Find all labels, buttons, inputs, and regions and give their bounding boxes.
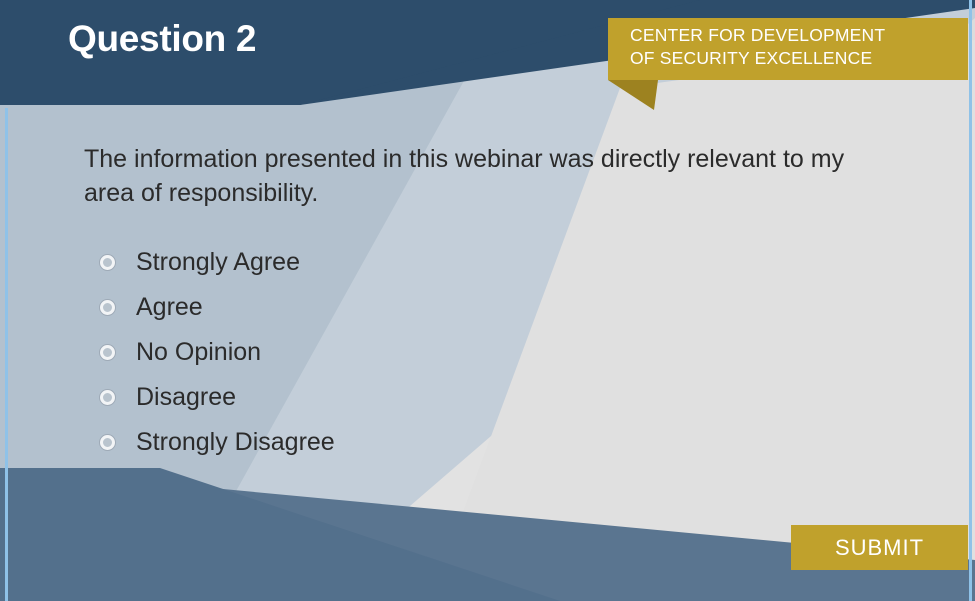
right-accent-rail xyxy=(969,0,972,601)
answer-options-list: Strongly Agree Agree No Opinion Disagree… xyxy=(100,240,560,465)
banner-line-1: CENTER FOR DEVELOPMENT xyxy=(630,24,968,47)
option-no-opinion[interactable]: No Opinion xyxy=(100,330,560,375)
radio-button-icon[interactable] xyxy=(100,390,115,405)
banner-fold-icon xyxy=(608,80,658,110)
radio-button-icon[interactable] xyxy=(100,255,115,270)
left-accent-rail xyxy=(5,108,8,601)
option-label: Agree xyxy=(136,295,203,320)
question-prompt: The information presented in this webina… xyxy=(84,142,854,210)
submit-button[interactable]: SUBMIT xyxy=(791,525,968,570)
banner-line-2: OF SECURITY EXCELLENCE xyxy=(630,47,968,70)
option-label: Strongly Agree xyxy=(136,250,300,275)
radio-button-icon[interactable] xyxy=(100,435,115,450)
radio-button-icon[interactable] xyxy=(100,345,115,360)
option-label: Strongly Disagree xyxy=(136,430,335,455)
option-label: No Opinion xyxy=(136,340,261,365)
option-strongly-disagree[interactable]: Strongly Disagree xyxy=(100,420,560,465)
quiz-slide: Question 2 CENTER FOR DEVELOPMENT OF SEC… xyxy=(0,0,975,601)
option-agree[interactable]: Agree xyxy=(100,285,560,330)
option-disagree[interactable]: Disagree xyxy=(100,375,560,420)
radio-button-icon[interactable] xyxy=(100,300,115,315)
page-title: Question 2 xyxy=(68,18,256,60)
option-strongly-agree[interactable]: Strongly Agree xyxy=(100,240,560,285)
organization-banner: CENTER FOR DEVELOPMENT OF SECURITY EXCEL… xyxy=(608,18,968,80)
option-label: Disagree xyxy=(136,385,236,410)
